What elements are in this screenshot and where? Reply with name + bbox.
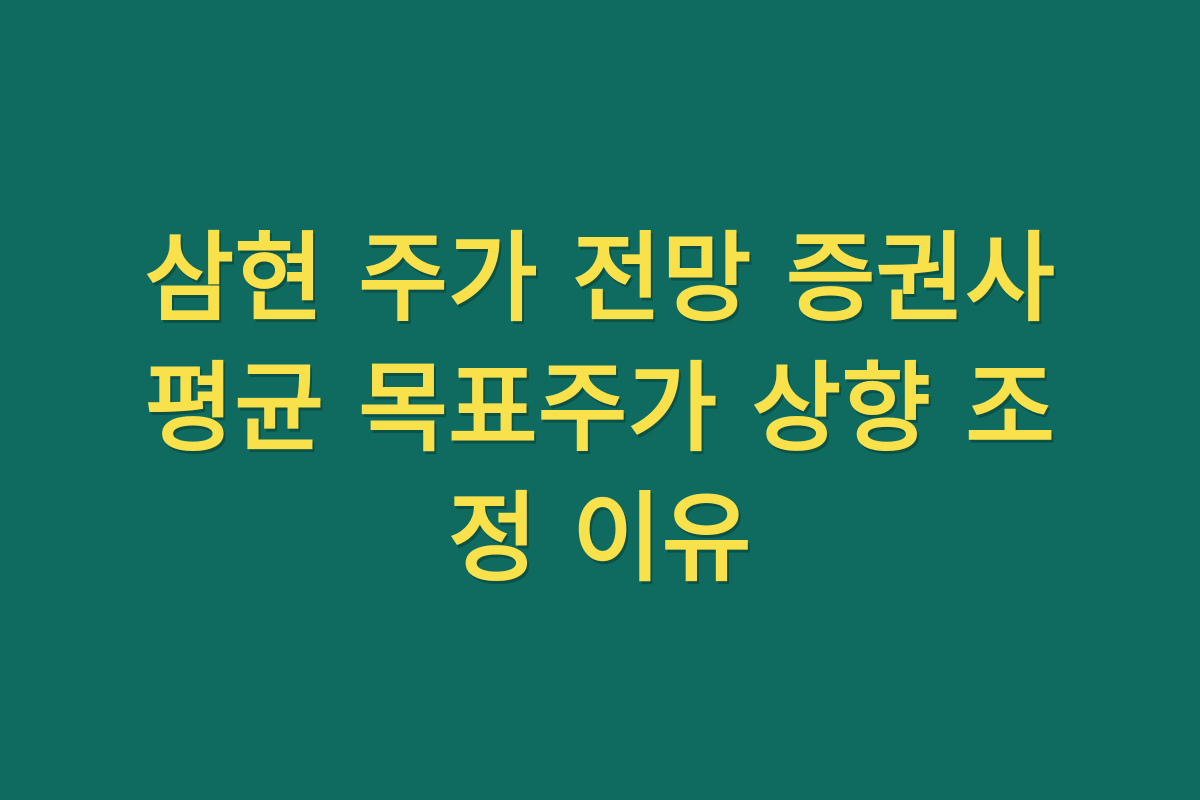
headline-block: 삼현 주가 전망 증권사 평균 목표주가 상향 조 정 이유 — [100, 214, 1100, 604]
headline-line-3: 정 이유 — [100, 474, 1100, 604]
title-card: 삼현 주가 전망 증권사 평균 목표주가 상향 조 정 이유 — [0, 0, 1200, 800]
headline-line-1: 삼현 주가 전망 증권사 — [100, 214, 1100, 344]
headline-line-2: 평균 목표주가 상향 조 — [100, 344, 1100, 474]
